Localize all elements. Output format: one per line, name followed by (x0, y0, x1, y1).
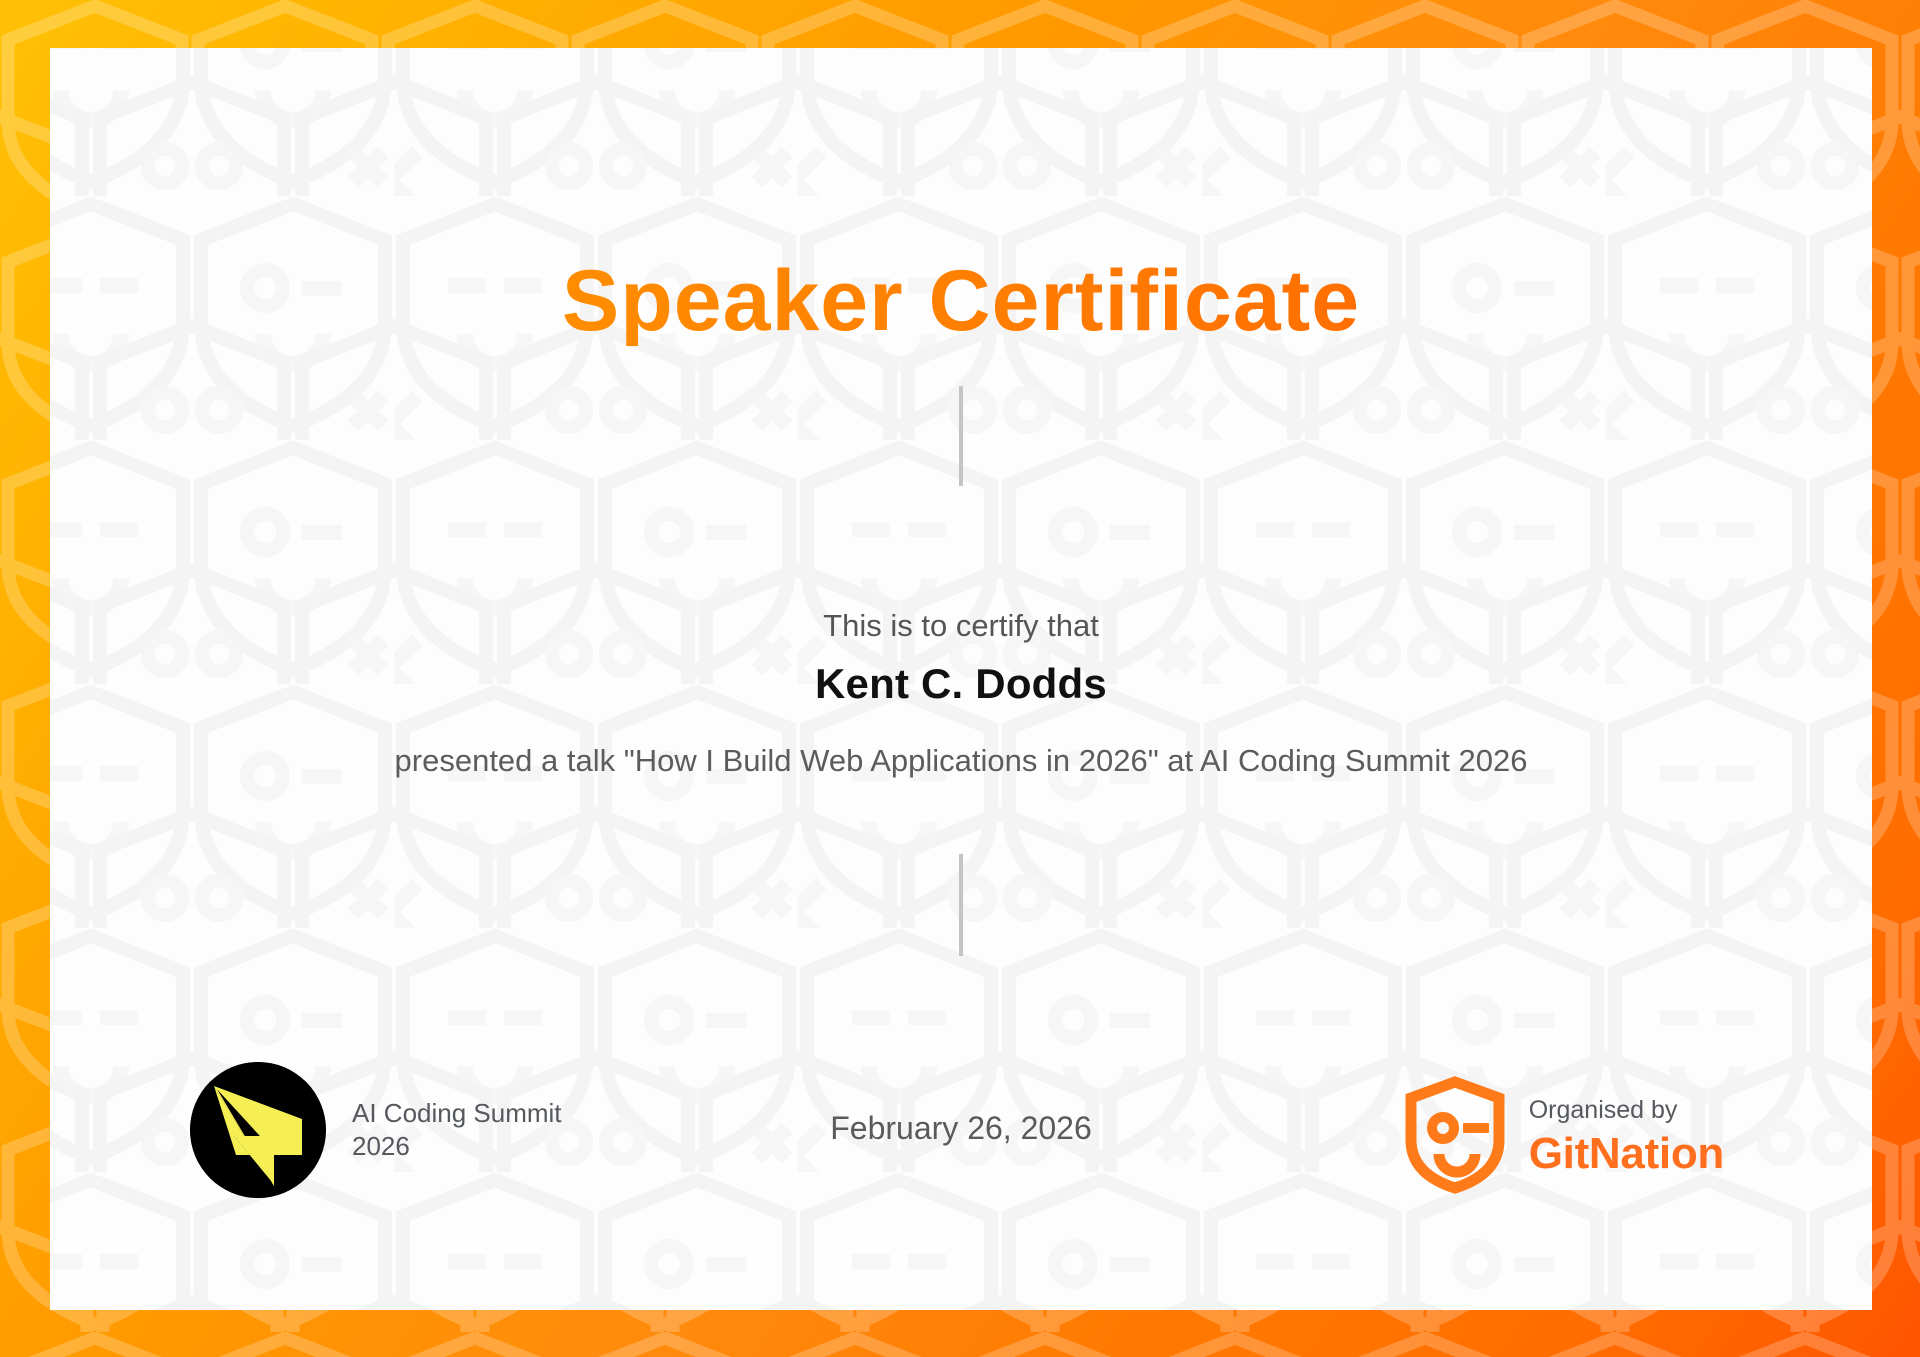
recipient-name: Kent C. Dodds (50, 660, 1872, 708)
organiser-block: Organised by GitNation (1403, 1076, 1724, 1199)
talk-description: presented a talk "How I Build Web Applic… (265, 740, 1657, 782)
gitnation-wordmark: GitNation (1529, 1130, 1724, 1178)
certify-line: This is to certify that (50, 608, 1872, 644)
gitnation-shield-face-logo (1403, 1076, 1507, 1199)
divider-bottom (959, 854, 963, 956)
certificate-date: February 26, 2026 (830, 1110, 1092, 1147)
event-name: AI Coding Summit 2026 (352, 1097, 602, 1164)
organiser-text: Organised by GitNation (1529, 1097, 1724, 1179)
certificate-card: Speaker Certificate This is to certify t… (50, 48, 1872, 1310)
certificate-footer: AI Coding Summit 2026 February 26, 2026 (50, 1048, 1872, 1228)
page-title: Speaker Certificate (50, 256, 1872, 346)
ai-coding-summit-lightning-logo (190, 1062, 326, 1198)
divider-top (959, 386, 963, 486)
event-block: AI Coding Summit 2026 (190, 1062, 602, 1198)
organised-by-label: Organised by (1529, 1097, 1724, 1125)
speaker-certificate: Speaker Certificate This is to certify t… (0, 0, 1920, 1357)
